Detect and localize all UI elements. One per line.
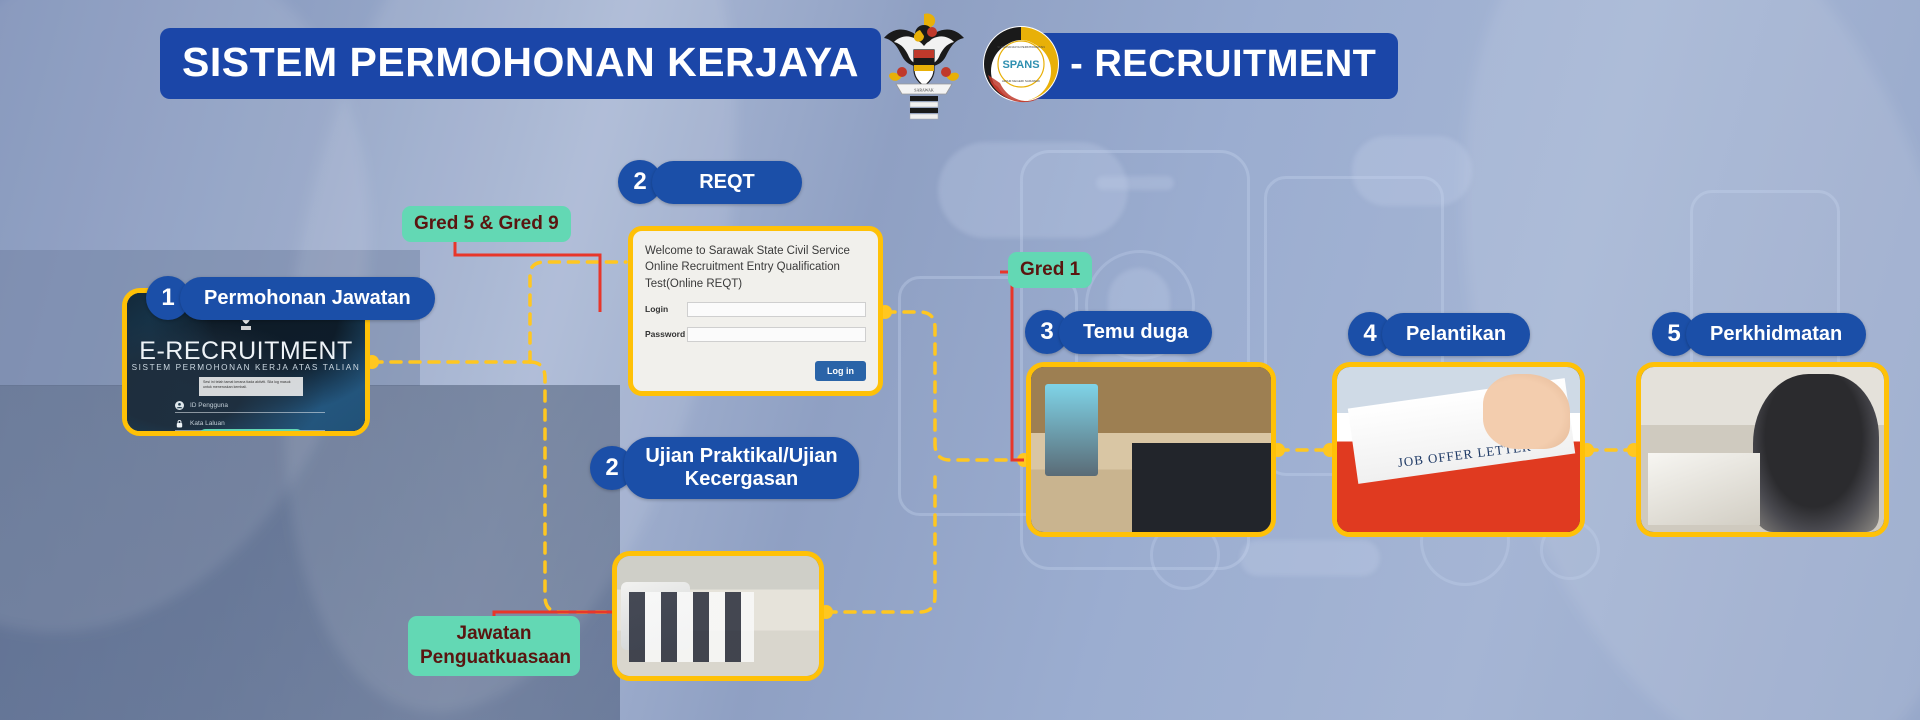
- background-blob-2: [1352, 136, 1472, 206]
- practical-test-photo: [617, 556, 819, 676]
- step-3-label: Temu duga: [1059, 311, 1212, 354]
- erecruitment-user-label: ID Pengguna: [190, 402, 228, 409]
- reqt-password-input[interactable]: [687, 327, 866, 342]
- step-2-reqt[interactable]: 2 REQT: [618, 160, 802, 204]
- job-offer-letter-photo: JOB OFFER LETTER: [1337, 367, 1580, 532]
- reqt-password-row: Password: [645, 317, 866, 342]
- tag-gred-5-and-9: Gred 5 & Gred 9: [402, 206, 571, 242]
- card-perkhidmatan-photo[interactable]: [1636, 362, 1889, 537]
- step-1-label: Permohonan Jawatan: [180, 277, 435, 320]
- title-line-2: e - RECRUITMENT: [1015, 33, 1398, 99]
- reqt-login-input[interactable]: [687, 302, 866, 317]
- card-ujian-praktikal-photo[interactable]: [612, 551, 824, 681]
- background-blob-3: [1240, 540, 1380, 576]
- step-5-perkhidmatan[interactable]: 5 Perkhidmatan: [1652, 312, 1866, 356]
- user-icon: [175, 401, 184, 410]
- erecruitment-login-button[interactable]: Log Masuk: [199, 429, 303, 436]
- reqt-login-button[interactable]: Log in: [815, 361, 866, 381]
- svg-text:AWAM NEGERI SARAWAK: AWAM NEGERI SARAWAK: [1002, 79, 1041, 83]
- reqt-login-row: Login: [645, 292, 866, 317]
- reqt-login-label: Login: [645, 304, 687, 314]
- reqt-welcome-text: Welcome to Sarawak State Civil Service O…: [633, 231, 878, 292]
- step-5-label: Perkhidmatan: [1686, 313, 1866, 356]
- reqt-password-label: Password: [645, 329, 687, 339]
- step-2-reqt-label: REQT: [652, 161, 802, 204]
- tag-jawatan-penguatkuasaan: Jawatan Penguatkuasaan: [408, 616, 580, 676]
- sarawak-coat-of-arms-icon: SARAWAK: [880, 8, 968, 120]
- page-title: SISTEM PERMOHONAN KERJAYA e - RECRUITMEN…: [160, 28, 1398, 99]
- tag-gred-1: Gred 1: [1008, 252, 1092, 288]
- title-line-1: SISTEM PERMOHONAN KERJAYA: [160, 28, 881, 99]
- erecruitment-password-label: Kata Laluan: [190, 420, 225, 427]
- erecruitment-subtitle: SISTEM PERMOHONAN KERJA ATAS TALIAN: [127, 363, 365, 372]
- erecruitment-session-message: Sesi ini telah tamat kerana tiada aktivi…: [199, 377, 303, 396]
- svg-text:SURUHANJAYA PERKHIDMATAN: SURUHANJAYA PERKHIDMATAN: [997, 45, 1044, 49]
- card-temu-duga-photo[interactable]: [1026, 362, 1276, 537]
- logo-group: SARAWAK SPANS SURUHANJAYA PERKHIDMATAN A…: [880, 8, 1060, 120]
- step-2-ujian-label: Ujian Praktikal/Ujian Kecergasan: [624, 437, 859, 499]
- card-pelantikan-photo[interactable]: JOB OFFER LETTER: [1332, 362, 1585, 537]
- hand-shape: [1483, 374, 1570, 450]
- step-4-pelantikan[interactable]: 4 Pelantikan: [1348, 312, 1530, 356]
- card-reqt-login-panel[interactable]: Welcome to Sarawak State Civil Service O…: [628, 226, 883, 396]
- step-1-permohonan-jawatan[interactable]: 1 Permohonan Jawatan: [146, 276, 435, 320]
- svg-text:SARAWAK: SARAWAK: [914, 88, 934, 93]
- spans-logo-text: SPANS: [1002, 59, 1039, 71]
- step-4-label: Pelantikan: [1382, 313, 1530, 356]
- erecruitment-title: E-RECRUITMENT: [127, 337, 365, 366]
- step-2-ujian-praktikal[interactable]: 2 Ujian Praktikal/Ujian Kecergasan: [590, 437, 859, 499]
- office-service-photo: [1641, 367, 1884, 532]
- background-blob-1: [938, 142, 1128, 238]
- lock-icon: [175, 419, 184, 428]
- step-3-temu-duga[interactable]: 3 Temu duga: [1025, 310, 1212, 354]
- interview-panel-photo: [1031, 367, 1271, 532]
- erecruitment-user-field[interactable]: ID Pengguna: [175, 399, 325, 413]
- spans-logo-icon: SPANS SURUHANJAYA PERKHIDMATAN AWAM NEGE…: [982, 25, 1060, 103]
